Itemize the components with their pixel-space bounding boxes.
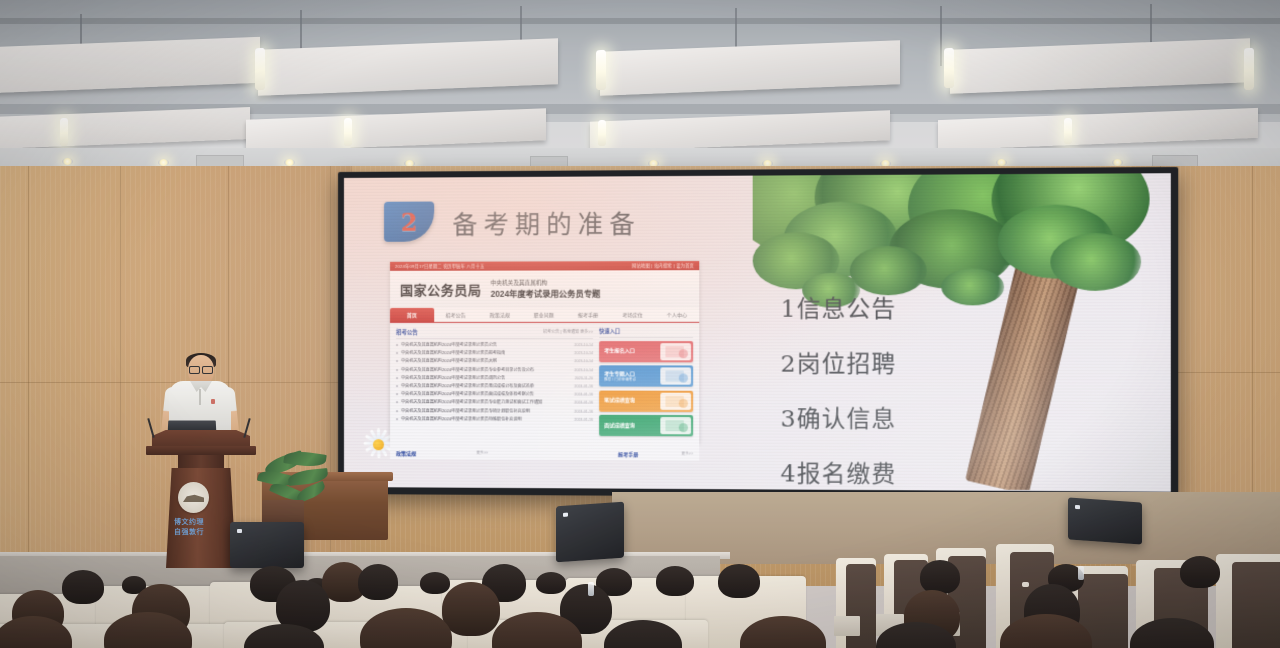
news-item-title: 中央机关及其直属机构2024年度考试录用公务员大纲	[401, 359, 571, 365]
audience-head	[62, 570, 104, 604]
footer-policy-more[interactable]: 更多>>	[477, 451, 488, 458]
footer-section-handbook[interactable]: 报考手册	[618, 451, 638, 458]
topbar-date: 2024年09月17日星期二 农历甲辰年 八月十五	[395, 263, 484, 269]
quick-entry-label: 笔试成绩查询	[604, 398, 635, 404]
website-header: 国家公务员局 中央机关及其直属机构 2024年度考试录用公务员专题	[390, 270, 699, 308]
news-column: 招考公告 招考公告 | 各地通知 更多>> 中央机关及其直属机构2024年度考试…	[396, 328, 593, 449]
audience-head	[656, 566, 694, 596]
ceiling-rail	[0, 18, 1280, 24]
slide-number-badge: 2	[384, 202, 434, 242]
news-item[interactable]: 中央机关及其直属机构2024年度考试录用公务员专业参考目录公告及公布2023-1…	[396, 366, 593, 375]
website-nav-item-2[interactable]: 政策法规	[478, 308, 522, 322]
downlight	[1112, 159, 1123, 166]
news-item-title: 中央机关及其直属机构2024年度考试录用公务员专项计划职位补充说明	[401, 408, 571, 415]
lecture-hall: 2 备考期的准备 2024年09月17日星期二 农历甲辰年 八月十五	[0, 0, 1280, 648]
news-item-date: 2024-01-16	[574, 401, 593, 405]
bullet-icon	[396, 385, 398, 387]
subtitle-line-1: 中央机关及其直属机构	[491, 278, 601, 286]
news-item[interactable]: 中央机关及其直属机构2024年度考试录用公务员公告2023-10-14	[396, 341, 593, 349]
news-item-title: 中央机关及其直属机构2024年度考试录用公务员调剂公告	[401, 375, 571, 381]
downlight	[158, 159, 169, 166]
downlight	[284, 159, 295, 166]
news-item-date: 2024-01-16	[574, 393, 593, 397]
hair-clip	[1022, 582, 1029, 587]
projection-screen-frame: 2 备考期的准备 2024年09月17日星期二 农历甲辰年 八月十五	[338, 167, 1178, 499]
slide-list-item-2: 3确认信息	[780, 399, 998, 434]
bullet-icon	[396, 402, 398, 404]
website-nav-item-3[interactable]: 职业问题	[522, 308, 566, 322]
news-item-date: 2024-01-16	[574, 418, 593, 422]
audience-head	[1180, 556, 1220, 588]
led-strip-light	[598, 120, 606, 146]
website-nav-item-1[interactable]: 招考公告	[434, 308, 478, 322]
glasses-icon	[189, 366, 213, 372]
led-strip-light	[1244, 48, 1254, 90]
website-nav-item-6[interactable]: 个人中心	[655, 308, 700, 322]
topbar-links[interactable]: 网站地图 | 站内搜索 | 设为首页	[632, 263, 694, 269]
tree-foliage	[850, 246, 927, 295]
website-nav: 首页招考公告政策法规职业问题报考手册考场定位个人中心	[390, 308, 699, 323]
news-item-title: 中央机关及其直属机构2024年度考试录用公务员专业参考目录公告及公布	[401, 367, 571, 373]
led-strip-light	[944, 48, 954, 88]
quick-entry-button-0[interactable]: 考生报名入口	[599, 341, 693, 362]
website-body: 招考公告 招考公告 | 各地通知 更多>> 中央机关及其直属机构2024年度考试…	[390, 323, 699, 450]
screenshot-root: 2 备考期的准备 2024年09月17日星期二 农历甲辰年 八月十五	[0, 0, 1280, 648]
website-nav-item-4[interactable]: 报考手册	[566, 308, 610, 322]
water-bottle	[588, 582, 594, 596]
audience-head	[718, 564, 760, 598]
news-item-date: 2023-10-14	[574, 351, 593, 355]
presenter-placket	[199, 389, 201, 405]
news-item-title: 中央机关及其直属机构2024年度考试录用公务员面试成绩及体检考察公告	[401, 391, 571, 397]
quick-entry-button-2[interactable]: 笔试成绩查询	[599, 390, 693, 411]
website-subtitle: 中央机关及其直属机构 2024年度考试录用公务员专题	[491, 278, 601, 299]
bullet-icon	[396, 369, 398, 371]
podium-neck	[178, 455, 224, 469]
quick-entry-illustration	[660, 368, 691, 385]
news-item-date: 2023-11-20	[575, 376, 593, 380]
led-strip-light	[255, 48, 265, 90]
news-heading: 招考公告	[396, 328, 418, 336]
quick-entry-label: 考生报名入口	[604, 349, 635, 355]
bullet-icon	[396, 344, 398, 346]
bullet-icon	[396, 352, 398, 354]
website-nav-item-0[interactable]: 首页	[390, 308, 434, 322]
led-strip-light	[344, 118, 352, 146]
news-item-title: 中央机关及其直属机构2024年度考试录用公务员报考指南	[401, 350, 571, 356]
slide-number-text: 2	[401, 207, 418, 236]
website-nav-item-5[interactable]: 考场定位	[610, 308, 654, 322]
news-item[interactable]: 中央机关及其直属机构2024年度考试录用公务员特殊职位补充说明2024-01-1…	[396, 415, 593, 424]
news-item-title: 中央机关及其直属机构2024年度考试录用公务员笔试成绩公布及面试名单	[401, 383, 571, 389]
news-item-date: 2024-01-16	[574, 409, 593, 413]
news-item[interactable]: 中央机关及其直属机构2024年度考试录用公务员报考指南2023-10-14	[396, 349, 593, 357]
downlight	[996, 159, 1007, 166]
bullet-icon	[396, 393, 398, 395]
led-strip-light	[60, 118, 68, 146]
quick-entry-column: 快速入口 考生报名入口考生专题入口推荐 / 门诊申请考试笔试成绩查询面试成绩查询	[599, 328, 693, 450]
quick-entry-label: 面试成绩查询	[604, 422, 635, 428]
audience-head	[536, 572, 566, 594]
downlight	[62, 158, 73, 165]
seat-tray	[834, 616, 860, 636]
projection-screen: 2 备考期的准备 2024年09月17日星期二 农历甲辰年 八月十五	[344, 173, 1171, 492]
quick-entry-illustration	[660, 343, 691, 360]
footer-handbook-more[interactable]: 更多>>	[681, 451, 693, 458]
news-item-title: 中央机关及其直属机构2024年度考试录用公务员特殊职位补充说明	[401, 416, 571, 423]
slide-list-item-3: 4报名缴费	[780, 454, 998, 490]
news-meta[interactable]: 招考公告 | 各地通知 更多>>	[543, 329, 593, 335]
podium-emblem-icon	[178, 482, 209, 513]
bullet-icon	[396, 361, 398, 363]
news-item[interactable]: 中央机关及其直属机构2024年度考试录用公务员大纲2023-10-14	[396, 357, 593, 365]
bullet-icon	[396, 377, 398, 379]
seat-back	[1232, 562, 1280, 648]
news-item-title: 中央机关及其直属机构2024年度考试录用公务员公告	[401, 342, 571, 348]
slide-title: 备考期的准备	[452, 205, 641, 242]
quick-entry-illustration	[660, 392, 691, 409]
ceiling	[0, 0, 1280, 172]
news-item-date: 2023-10-14	[574, 368, 593, 372]
news-item-date: 2024-01-16	[574, 384, 593, 388]
tree-foliage	[1050, 233, 1141, 291]
news-item-title: 中央机关及其直属机构2024年度考试录用公务员专业能力测试和面试工作通知	[401, 400, 571, 406]
audience-head	[420, 572, 450, 594]
quick-entry-button-1[interactable]: 考生专题入口推荐 / 门诊申请考试	[599, 366, 693, 387]
ceiling-hanger	[940, 6, 942, 66]
slide-list-item-0: 1信息公告	[780, 289, 998, 324]
water-bottle	[1078, 566, 1084, 580]
news-header: 招考公告 招考公告 | 各地通知 更多>>	[396, 328, 593, 339]
quick-entry-heading: 快速入口	[599, 328, 693, 338]
subtitle-line-2: 2024年度考试录用公务员专题	[491, 288, 601, 300]
news-list: 中央机关及其直属机构2024年度考试录用公务员公告2023-10-14中央机关及…	[396, 341, 593, 424]
audience-area	[0, 520, 1280, 648]
quick-entry-button-3[interactable]: 面试成绩查询	[599, 415, 693, 437]
news-item-date: 2023-10-14	[574, 360, 593, 364]
quick-entry-illustration	[660, 417, 691, 434]
news-item-date: 2023-10-14	[574, 343, 593, 347]
audience-head	[442, 582, 500, 636]
quick-entry-list: 考生报名入口考生专题入口推荐 / 门诊申请考试笔试成绩查询面试成绩查询	[599, 341, 693, 436]
bullet-icon	[396, 418, 398, 420]
website-screenshot: 2024年09月17日星期二 农历甲辰年 八月十五 网站地图 | 站内搜索 | …	[390, 261, 699, 443]
led-strip-light	[596, 50, 606, 90]
slide-numbered-list: 1信息公告2岗位招聘3确认信息4报名缴费	[780, 289, 998, 492]
presenter-pocket-logo	[211, 399, 215, 404]
quick-entry-label: 考生专题入口推荐 / 门诊申请考试	[604, 371, 636, 382]
audience-head	[920, 560, 960, 594]
audience-head	[358, 564, 398, 600]
slide-list-item-1: 2岗位招聘	[780, 344, 998, 379]
bullet-icon	[396, 410, 398, 412]
led-strip-light	[1064, 118, 1072, 144]
podium-lip	[146, 446, 256, 455]
website-logo: 国家公务员局	[400, 280, 482, 299]
website-footer: 政策法规 更多>> 报考手册 更多>>	[390, 448, 699, 460]
footer-section-policy[interactable]: 政策法规	[396, 450, 416, 457]
